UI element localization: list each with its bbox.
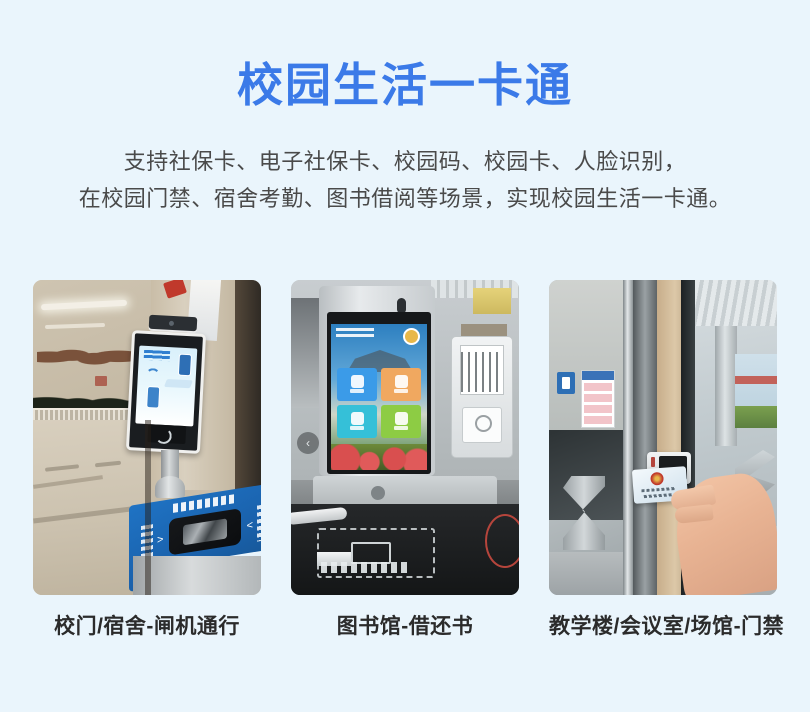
wall-poster	[187, 280, 221, 341]
exterior-column	[715, 326, 737, 446]
notice-header	[582, 371, 614, 380]
red-cable	[485, 514, 519, 568]
terminal-stand-base	[155, 476, 185, 498]
notice-board	[581, 370, 615, 428]
scene-card-door-access: 教学楼/会议室/场馆-门禁	[549, 280, 777, 640]
phone-illustration-a	[178, 354, 192, 377]
nfc-reader-icon[interactable]	[147, 424, 186, 444]
reader-tray-illustration	[164, 379, 193, 388]
card-text-line-1	[641, 487, 675, 492]
school-emblem-icon	[403, 328, 420, 345]
photo-door-access	[549, 280, 777, 595]
dark-glass-reflection	[549, 430, 623, 520]
page-subtitle: 支持社保卡、电子社保卡、校园码、校园卡、人脸识别， 在校园门禁、宿舍考勤、图书借…	[0, 108, 810, 217]
door-frame-outer	[623, 280, 633, 595]
subtitle-line-2: 在校园门禁、宿舍考勤、图书借阅等场景，实现校园生活一卡通。	[0, 180, 810, 217]
screen-heading-text	[144, 350, 170, 361]
turnstile-label-right	[257, 503, 261, 541]
card-text-line-2	[644, 493, 674, 498]
qr-code-scanner[interactable]	[169, 508, 241, 555]
tile-query[interactable]	[381, 405, 421, 438]
back-arrow-icon[interactable]: ‹	[297, 432, 319, 454]
card-caption: 教学楼/会议室/场馆-门禁	[549, 610, 777, 640]
face-recognition-terminal	[126, 330, 206, 454]
turnstile-edge	[145, 420, 151, 595]
interior-floor	[549, 552, 623, 595]
kiosk-screen-bezel	[327, 312, 431, 474]
arrow-left-icon: <	[247, 519, 253, 532]
promo-page: 校园生活一卡通 支持社保卡、电子社保卡、校园码、校园卡、人脸识别， 在校园门禁、…	[0, 0, 810, 712]
book-zone-label	[321, 562, 407, 573]
scene-card-library: ‹ 图书馆-借还书	[291, 280, 519, 640]
arrow-right-icon: >	[157, 533, 163, 546]
dark-column	[235, 280, 261, 495]
instruction-text-block	[460, 345, 504, 395]
direction-sign-icon	[557, 372, 575, 394]
subtitle-line-1: 支持社保卡、电子社保卡、校园码、校园卡、人脸识别，	[0, 143, 810, 180]
background-poster	[473, 288, 511, 314]
door-frame-inner	[633, 280, 657, 595]
scene-card-row: > < 校门/宿舍-闸机通行	[33, 280, 777, 640]
page-title: 校园生活一卡通	[0, 0, 810, 108]
photo-gate-turnstile: > <	[33, 280, 261, 595]
flowerbed-photo	[331, 444, 427, 470]
phone-illustration-b	[146, 386, 160, 409]
face-camera-module	[149, 315, 198, 331]
card-tap-pad[interactable]	[462, 407, 502, 443]
notice-body	[584, 383, 612, 425]
kiosk-touchscreen[interactable]	[331, 324, 427, 470]
outdoor-view	[735, 354, 777, 428]
tile-search[interactable]	[337, 405, 377, 438]
instruction-panel	[451, 336, 513, 458]
card-caption: 校门/宿舍-闸机通行	[33, 610, 261, 640]
terminal-screen	[135, 346, 197, 427]
tile-borrow[interactable]	[337, 368, 377, 401]
turnstile-body	[133, 556, 261, 595]
nfc-wave-icon	[145, 368, 160, 383]
outdoor-red-banner	[735, 376, 777, 384]
photo-library-kiosk: ‹	[291, 280, 519, 595]
wall-calligraphy	[37, 340, 133, 374]
kiosk-function-tiles	[337, 368, 421, 438]
card-caption: 图书馆-借还书	[291, 610, 519, 640]
scene-card-gate: > < 校门/宿舍-闸机通行	[33, 280, 261, 640]
exterior-ceiling	[695, 280, 777, 326]
tile-return[interactable]	[381, 368, 421, 401]
national-emblem-icon	[650, 472, 664, 486]
kiosk-screen-title	[336, 328, 374, 340]
